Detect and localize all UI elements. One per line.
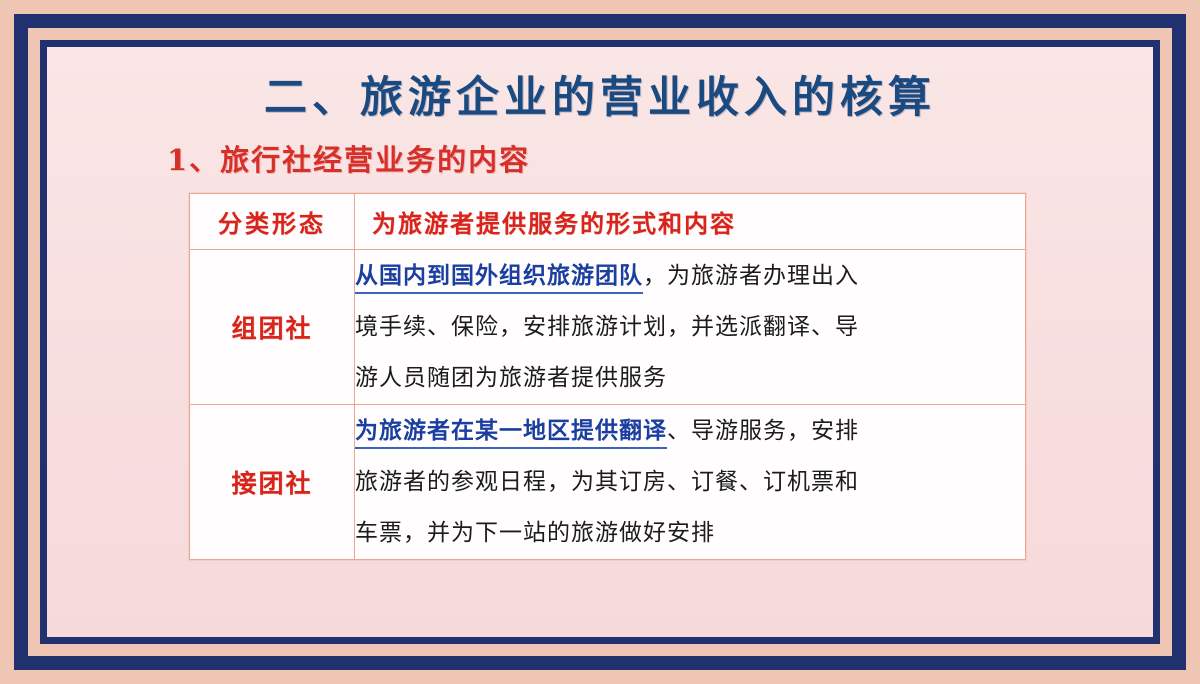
description-line: 从国内到国外组织旅游团队，为旅游者办理出入 [355, 250, 1025, 302]
slide-canvas: 二、旅游企业的营业收入的核算 1、旅行社经营业务的内容 分类形态 为旅游者提供服… [47, 47, 1153, 637]
table-row: 组团社 从国内到国外组织旅游团队，为旅游者办理出入 境手续、保险，安排旅游计划，… [190, 250, 1026, 405]
page-title: 二、旅游企业的营业收入的核算 [47, 63, 1153, 125]
description-line: 旅游者的参观日程，为其订房、订餐、订机票和 [355, 457, 1025, 508]
description-line: 为旅游者在某一地区提供翻译、导游服务，安排 [355, 405, 1025, 457]
description-line: 游人员随团为旅游者提供服务 [355, 353, 1025, 404]
slide: 二、旅游企业的营业收入的核算 1、旅行社经营业务的内容 分类形态 为旅游者提供服… [0, 0, 1200, 684]
row-type-label-jietuanshe: 接团社 [190, 405, 355, 560]
description-line: 车票，并为下一站的旅游做好安排 [355, 508, 1025, 559]
description-text: 、导游服务，安排 [667, 418, 859, 444]
highlight-text: 从国内到国外组织旅游团队 [355, 262, 643, 294]
table-header: 分类形态 为旅游者提供服务的形式和内容 [190, 194, 1026, 250]
slide-frame-inner-border: 二、旅游企业的营业收入的核算 1、旅行社经营业务的内容 分类形态 为旅游者提供服… [40, 40, 1160, 644]
row-description-zutuanshe: 从国内到国外组织旅游团队，为旅游者办理出入 境手续、保险，安排旅游计划，并选派翻… [355, 250, 1026, 405]
description-line: 境手续、保险，安排旅游计划，并选派翻译、导 [355, 302, 1025, 353]
slide-frame-outer-border: 二、旅游企业的营业收入的核算 1、旅行社经营业务的内容 分类形态 为旅游者提供服… [14, 14, 1186, 670]
row-description-jietuanshe: 为旅游者在某一地区提供翻译、导游服务，安排 旅游者的参观日程，为其订房、订餐、订… [355, 405, 1026, 560]
section-heading: 1、旅行社经营业务的内容 [167, 137, 530, 179]
table-row: 接团社 为旅游者在某一地区提供翻译、导游服务，安排 旅游者的参观日程，为其订房、… [190, 405, 1026, 560]
table-header-type: 分类形态 [190, 194, 355, 250]
row-type-label-zutuanshe: 组团社 [190, 250, 355, 405]
table-body: 组团社 从国内到国外组织旅游团队，为旅游者办理出入 境手续、保险，安排旅游计划，… [190, 250, 1026, 560]
highlight-text: 为旅游者在某一地区提供翻译 [355, 417, 667, 449]
table-header-description: 为旅游者提供服务的形式和内容 [355, 194, 1026, 250]
business-content-table: 分类形态 为旅游者提供服务的形式和内容 组团社 从国内到国外组织旅游团队，为旅游… [189, 193, 1026, 560]
table-header-row: 分类形态 为旅游者提供服务的形式和内容 [190, 194, 1026, 250]
description-text: ，为旅游者办理出入 [643, 263, 859, 289]
